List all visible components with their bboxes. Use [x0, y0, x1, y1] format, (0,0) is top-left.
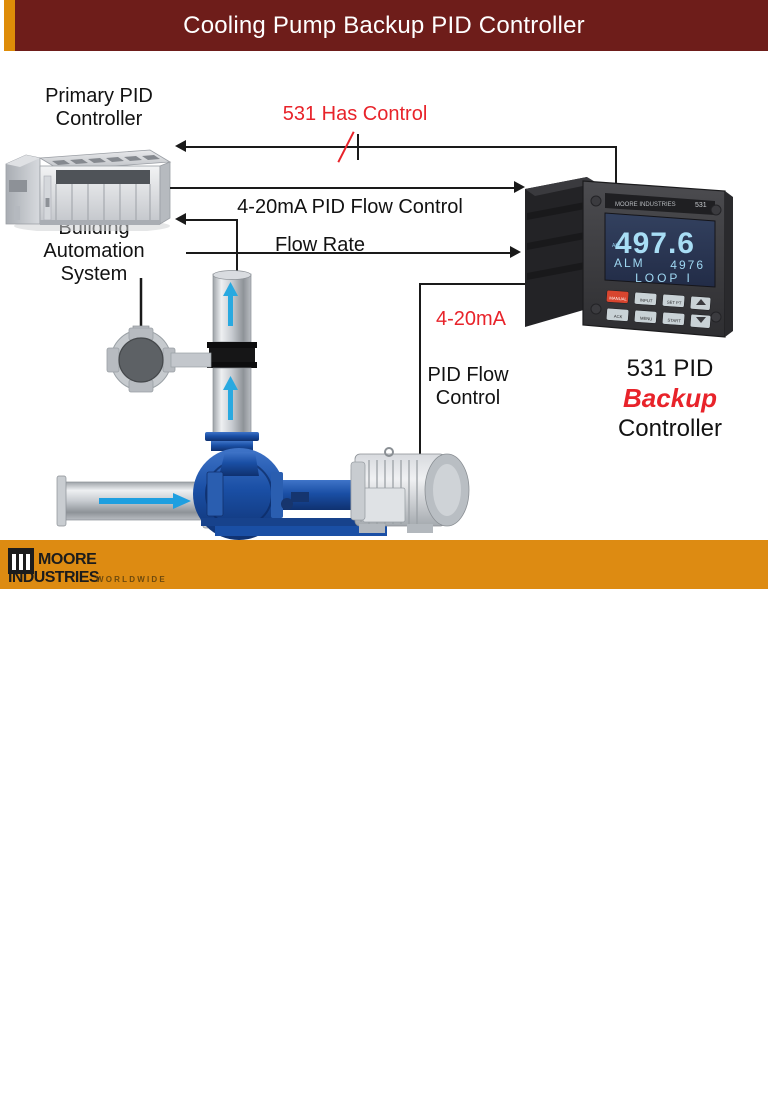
plc-rack-image — [4, 136, 174, 226]
svg-text:AIR: AIR — [612, 243, 621, 249]
svg-text:531: 531 — [695, 202, 707, 209]
svg-text:ACK: ACK — [614, 314, 623, 320]
moore-industries-logo: MOORE INDUSTRIES WORLDWIDE — [6, 546, 306, 586]
flow-rate-branch-riser — [236, 219, 238, 253]
footer-tagline: Demand Moore Reliability — [530, 1102, 664, 1114]
svg-text:MENU: MENU — [640, 316, 653, 322]
svg-text:ALM: ALM — [614, 256, 645, 270]
pid-controller-531-image[interactable]: MOORE INDUSTRIES 531 497.6 AIR ALM 4976 … — [519, 169, 749, 354]
pid-flow-control-label: 4-20mA PID Flow Control — [205, 196, 495, 219]
svg-text:INDUSTRIES: INDUSTRIES — [8, 569, 100, 586]
svg-text:INPUT: INPUT — [640, 298, 653, 304]
svg-text:START: START — [667, 318, 681, 324]
page-footer: MOORE INDUSTRIES WORLDWIDE Demand Moore … — [0, 540, 768, 589]
pump-assembly-image — [55, 266, 475, 541]
footer-url[interactable]: www.miinet.com — [668, 1101, 758, 1113]
diagram-canvas: Primary PID Controller Building Automati… — [0, 51, 768, 540]
signal-break-label: 531 Has Control — [250, 103, 460, 126]
device-caption-line2: Backup — [575, 383, 765, 414]
plc-label: Primary PID Controller — [14, 85, 184, 131]
pid-flow-control-line — [170, 187, 515, 189]
svg-text:MOORE: MOORE — [38, 551, 97, 568]
device-caption-line1: 531 PID — [575, 354, 765, 383]
svg-text:WORLDWIDE: WORLDWIDE — [96, 575, 167, 584]
signal-break-bar-icon — [357, 134, 359, 160]
control-signal-line — [186, 146, 616, 148]
flow-rate-arrowhead-left — [175, 213, 186, 225]
page-header: Cooling Pump Backup PID Controller — [0, 0, 768, 51]
svg-text:LOOP I: LOOP I — [635, 271, 693, 285]
svg-text:MOORE INDUSTRIES: MOORE INDUSTRIES — [615, 202, 676, 208]
svg-text:4976: 4976 — [670, 258, 705, 272]
device-caption-line3: Controller — [575, 414, 765, 443]
flow-rate-line — [186, 252, 511, 254]
control-signal-arrowhead — [175, 140, 186, 152]
flow-rate-branch-to-plc — [186, 219, 238, 221]
page-title: Cooling Pump Backup PID Controller — [0, 0, 768, 51]
